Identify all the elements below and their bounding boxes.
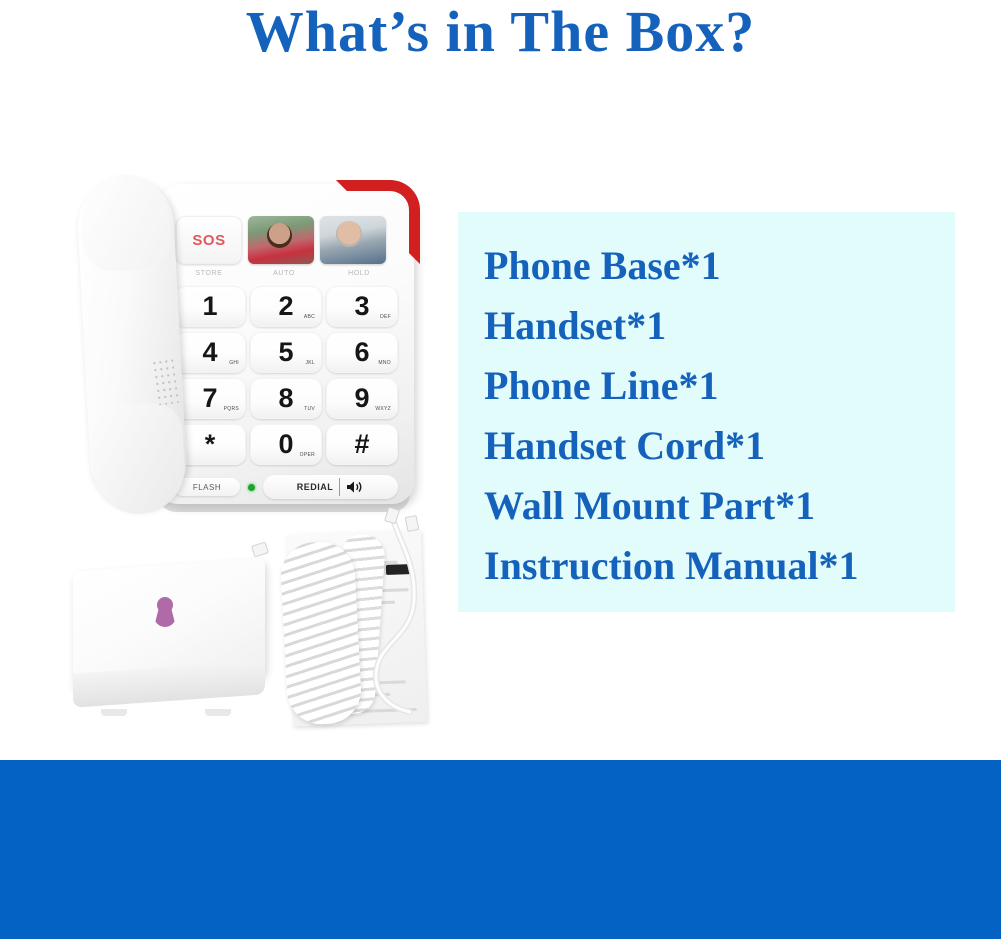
key-5[interactable]: 5 JKL [250,332,322,373]
key-digit: 6 [354,339,369,366]
list-item: Wall Mount Part*1 [484,476,944,536]
flash-button[interactable]: FLASH [174,478,240,496]
key-letters: ABC [304,315,315,320]
key-digit: 0 [278,431,293,458]
sublabel-auto: AUTO [251,270,317,277]
key-digit: # [354,431,369,458]
list-item: Phone Base*1 [484,236,944,296]
wall-mount-foot [101,709,127,716]
list-item: Handset Cord*1 [484,416,944,476]
key-letters: PQRS [224,407,239,412]
key-6[interactable]: 6 MNO [326,332,398,373]
key-letters: JKL [305,361,315,366]
key-digit: 2 [278,293,293,320]
bottom-color-band [0,760,1001,939]
status-led-indicator [248,484,255,491]
photo-memory-button-1[interactable] [248,216,314,264]
key-digit: 7 [202,385,217,412]
sublabel-store: STORE [176,270,242,277]
key-0[interactable]: 0 OPER [250,424,322,465]
cords-and-manual-illustration [278,490,438,740]
handset-illustration [75,176,188,511]
key-letters: TUV [304,407,315,412]
redial-speakerphone-button[interactable]: REDIAL [263,475,398,499]
key-digit: * [205,431,216,458]
key-letters: OPER [300,453,315,458]
list-item: Phone Line*1 [484,356,944,416]
key-letters: GHI [229,361,239,366]
key-4[interactable]: 4 GHI [174,332,246,373]
sos-button[interactable]: SOS [176,216,242,264]
key-1[interactable]: 1 [174,286,246,327]
list-item: Instruction Manual*1 [484,536,944,596]
key-digit: 5 [278,339,293,366]
key-letters: WXYZ [375,407,391,412]
key-digit: 4 [202,339,217,366]
key-9[interactable]: 9 WXYZ [326,378,398,419]
red-accent-arc-icon [336,180,420,264]
wall-mount-part-illustration [65,555,285,730]
box-contents-list: Phone Base*1 Handset*1 Phone Line*1 Hand… [484,236,944,596]
memory-button-sublabels: STORE AUTO HOLD [176,270,392,277]
function-button-row: FLASH REDIAL [174,474,398,500]
keypad: 1 2 ABC 3 DEF 4 GHI 5 JKL 6 MNO [174,286,398,465]
key-hash[interactable]: # [326,424,398,465]
key-letters: DEF [380,315,391,320]
button-divider [339,478,340,496]
key-digit: 8 [278,385,293,412]
redial-label: REDIAL [297,482,334,492]
key-letters: MNO [378,361,391,366]
product-illustration-phone: SOS STORE AUTO HOLD 1 2 ABC 3 DEF 4 [60,160,450,760]
box-contents-panel: Phone Base*1 Handset*1 Phone Line*1 Hand… [458,212,955,612]
key-digit: 1 [202,293,217,320]
page-title: What’s in The Box? [0,2,1001,63]
key-7[interactable]: 7 PQRS [174,378,246,419]
key-3[interactable]: 3 DEF [326,286,398,327]
speaker-icon [346,480,364,494]
key-2[interactable]: 2 ABC [250,286,322,327]
phone-line-cord [370,514,426,714]
wall-mount-foot [205,709,231,716]
keyhole-slot-icon [153,597,177,627]
key-digit: 3 [354,293,369,320]
handset-cord-coil [279,540,362,726]
list-item: Handset*1 [484,296,944,356]
handset-speaker-grille [151,357,179,406]
phone-base-illustration: SOS STORE AUTO HOLD 1 2 ABC 3 DEF 4 [156,184,414,504]
key-digit: 9 [354,385,369,412]
key-8[interactable]: 8 TUV [250,378,322,419]
sublabel-hold: HOLD [326,270,392,277]
